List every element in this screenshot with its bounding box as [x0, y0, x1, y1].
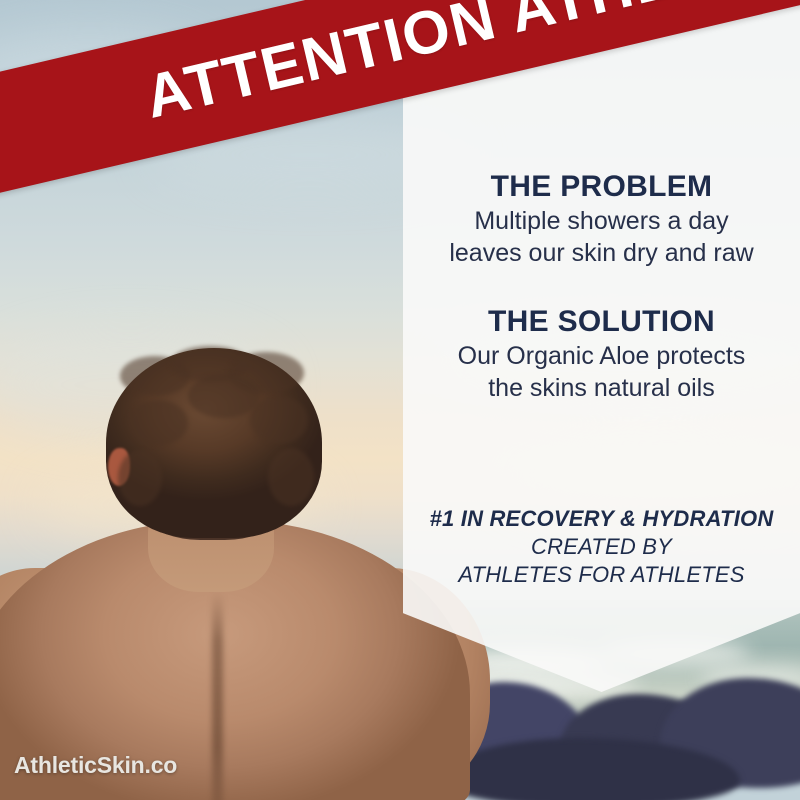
solution-heading: THE SOLUTION: [413, 305, 790, 339]
solution-section: THE SOLUTION Our Organic Aloe protects t…: [403, 305, 800, 403]
brand-logo[interactable]: AthleticSkin.co: [14, 752, 177, 779]
tagline-line-1: CREATED BY: [413, 533, 790, 562]
hair-strand: [250, 396, 308, 444]
tagline-emphasis: #1 IN RECOVERY & HYDRATION: [413, 505, 790, 533]
info-panel: THE PROBLEM Multiple showers a day leave…: [403, 0, 800, 692]
solution-line-2: the skins natural oils: [413, 373, 790, 403]
problem-heading: THE PROBLEM: [413, 170, 790, 204]
ad-creative: THE PROBLEM Multiple showers a day leave…: [0, 0, 800, 800]
hair-strand: [268, 448, 314, 506]
athlete-figure: [0, 330, 430, 800]
spine-shadow: [212, 592, 223, 800]
tagline-section: #1 IN RECOVERY & HYDRATION CREATED BY AT…: [403, 505, 800, 590]
solution-line-1: Our Organic Aloe protects: [413, 341, 790, 371]
hair-strand: [128, 400, 188, 446]
hair-strand: [118, 450, 162, 506]
tagline-line-2: ATHLETES FOR ATHLETES: [413, 561, 790, 590]
hair-strand: [188, 374, 260, 418]
problem-section: THE PROBLEM Multiple showers a day leave…: [403, 170, 800, 268]
problem-line-1: Multiple showers a day: [413, 206, 790, 236]
problem-line-2: leaves our skin dry and raw: [413, 238, 790, 268]
